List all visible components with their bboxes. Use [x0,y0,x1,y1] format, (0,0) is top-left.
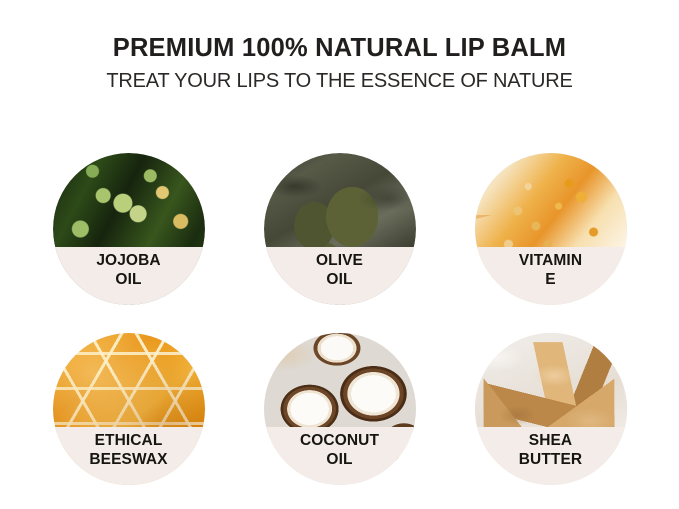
ingredient-infographic: PREMIUM 100% NATURAL LIP BALM TREAT YOUR… [0,0,679,509]
ingredient-row-1: JOJOBA OIL OLIVE OIL [0,153,679,305]
ingredient-label-line-1: SHEA [529,432,572,451]
ingredient-badge-shea-butter[interactable]: SHEA BUTTER [475,333,627,485]
ingredient-cell-ethical-beeswax: ETHICAL BEESWAX [23,333,234,485]
ingredient-badge-jojoba-oil[interactable]: JOJOBA OIL [53,153,205,305]
ingredient-label-line-2: BEESWAX [89,451,167,470]
ingredient-label-line-2: OIL [326,271,352,290]
ingredient-label-line-1: ETHICAL [95,432,163,451]
header: PREMIUM 100% NATURAL LIP BALM TREAT YOUR… [0,34,679,93]
ingredient-label-ethical-beeswax: ETHICAL BEESWAX [53,427,205,485]
ingredient-badge-vitamin-e[interactable]: VITAMIN E [475,153,627,305]
ingredient-cell-vitamin-e: VITAMIN E [445,153,656,305]
ingredient-grid: JOJOBA OIL OLIVE OIL [0,153,679,493]
ingredient-badge-olive-oil[interactable]: OLIVE OIL [264,153,416,305]
ingredient-badge-coconut-oil[interactable]: COCONUT OIL [264,333,416,485]
ingredient-label-line-1: COCONUT [300,432,379,451]
ingredient-label-coconut-oil: COCONUT OIL [264,427,416,485]
ingredient-cell-jojoba-oil: JOJOBA OIL [23,153,234,305]
page-subtitle: TREAT YOUR LIPS TO THE ESSENCE OF NATURE [0,70,679,93]
ingredient-label-line-1: OLIVE [316,252,363,271]
ingredient-label-line-1: VITAMIN [519,252,582,271]
ingredient-cell-olive-oil: OLIVE OIL [234,153,445,305]
ingredient-row-2: ETHICAL BEESWAX COCONUT OIL [0,333,679,485]
ingredient-cell-coconut-oil: COCONUT OIL [234,333,445,485]
ingredient-label-vitamin-e: VITAMIN E [475,247,627,305]
ingredient-cell-shea-butter: SHEA BUTTER [445,333,656,485]
ingredient-label-line-2: OIL [326,451,352,470]
ingredient-label-olive-oil: OLIVE OIL [264,247,416,305]
ingredient-label-shea-butter: SHEA BUTTER [475,427,627,485]
ingredient-label-line-2: BUTTER [519,451,582,470]
page-title: PREMIUM 100% NATURAL LIP BALM [0,34,679,63]
ingredient-badge-ethical-beeswax[interactable]: ETHICAL BEESWAX [53,333,205,485]
ingredient-label-line-2: OIL [115,271,141,290]
ingredient-label-line-2: E [545,271,555,290]
ingredient-label-jojoba-oil: JOJOBA OIL [53,247,205,305]
ingredient-label-line-1: JOJOBA [96,252,160,271]
